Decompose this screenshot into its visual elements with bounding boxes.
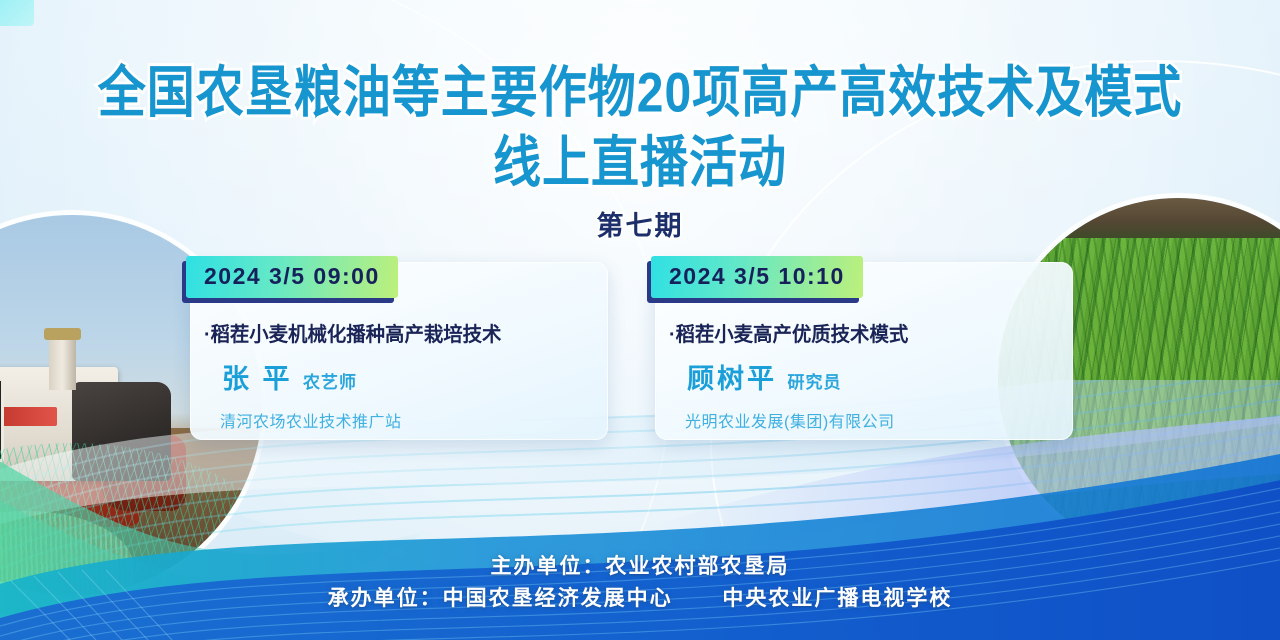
session-card[interactable]: 2024 3/5 09:00 ·稻茬小麦机械化播种高产栽培技术 张 平 农艺师 …: [190, 262, 608, 440]
session-card-body: ·稻茬小麦机械化播种高产栽培技术 张 平 农艺师 清河农场农业技术推广站: [190, 318, 608, 432]
speaker-organization: 清河农场农业技术推广站: [204, 408, 592, 432]
co-organizer-label: 承办单位：中国农垦经济发展中心: [328, 587, 673, 610]
session-card-body: ·稻茬小麦高产优质技术模式 顾树平 研究员 光明农业发展(集团)有限公司: [655, 318, 1073, 432]
corner-accent: [0, 0, 34, 26]
session-card[interactable]: 2024 3/5 10:10 ·稻茬小麦高产优质技术模式 顾树平 研究员 光明农…: [655, 262, 1073, 440]
speaker-role: 研究员: [787, 373, 841, 392]
speaker-name: 顾树平: [687, 364, 777, 394]
speaker-name: 张 平: [222, 364, 293, 394]
livestream-poster: 全国农垦粮油等主要作物20项高产高效技术及模式 线上直播活动 第七期: [0, 0, 1280, 640]
session-speaker: 顾树平 研究员: [669, 357, 1057, 396]
session-topic: ·稻茬小麦机械化播种高产栽培技术: [204, 318, 580, 347]
poster-title: 全国农垦粮油等主要作物20项高产高效技术及模式 线上直播活动: [0, 66, 1280, 191]
episode-label: 第七期: [0, 204, 1280, 243]
organizer-line: 主办单位：农业农村部农垦局: [0, 551, 1280, 583]
co-organizer-second: 中央农业广播电视学校: [722, 587, 952, 610]
co-organizer-line: 承办单位：中国农垦经济发展中心 中央农业广播电视学校: [0, 583, 1280, 615]
session-topic: ·稻茬小麦高产优质技术模式: [669, 318, 1045, 347]
session-datetime-badge: 2024 3/5 09:00: [186, 256, 398, 298]
speaker-role: 农艺师: [303, 373, 357, 392]
poster-footer: 主办单位：农业农村部农垦局 承办单位：中国农垦经济发展中心 中央农业广播电视学校: [0, 551, 1280, 614]
title-line-2: 线上直播活动: [0, 131, 1280, 196]
speaker-organization: 光明农业发展(集团)有限公司: [669, 408, 1057, 432]
title-line-1: 全国农垦粮油等主要作物20项高产高效技术及模式: [0, 62, 1280, 127]
session-speaker: 张 平 农艺师: [204, 357, 592, 396]
session-datetime-badge: 2024 3/5 10:10: [651, 256, 863, 298]
